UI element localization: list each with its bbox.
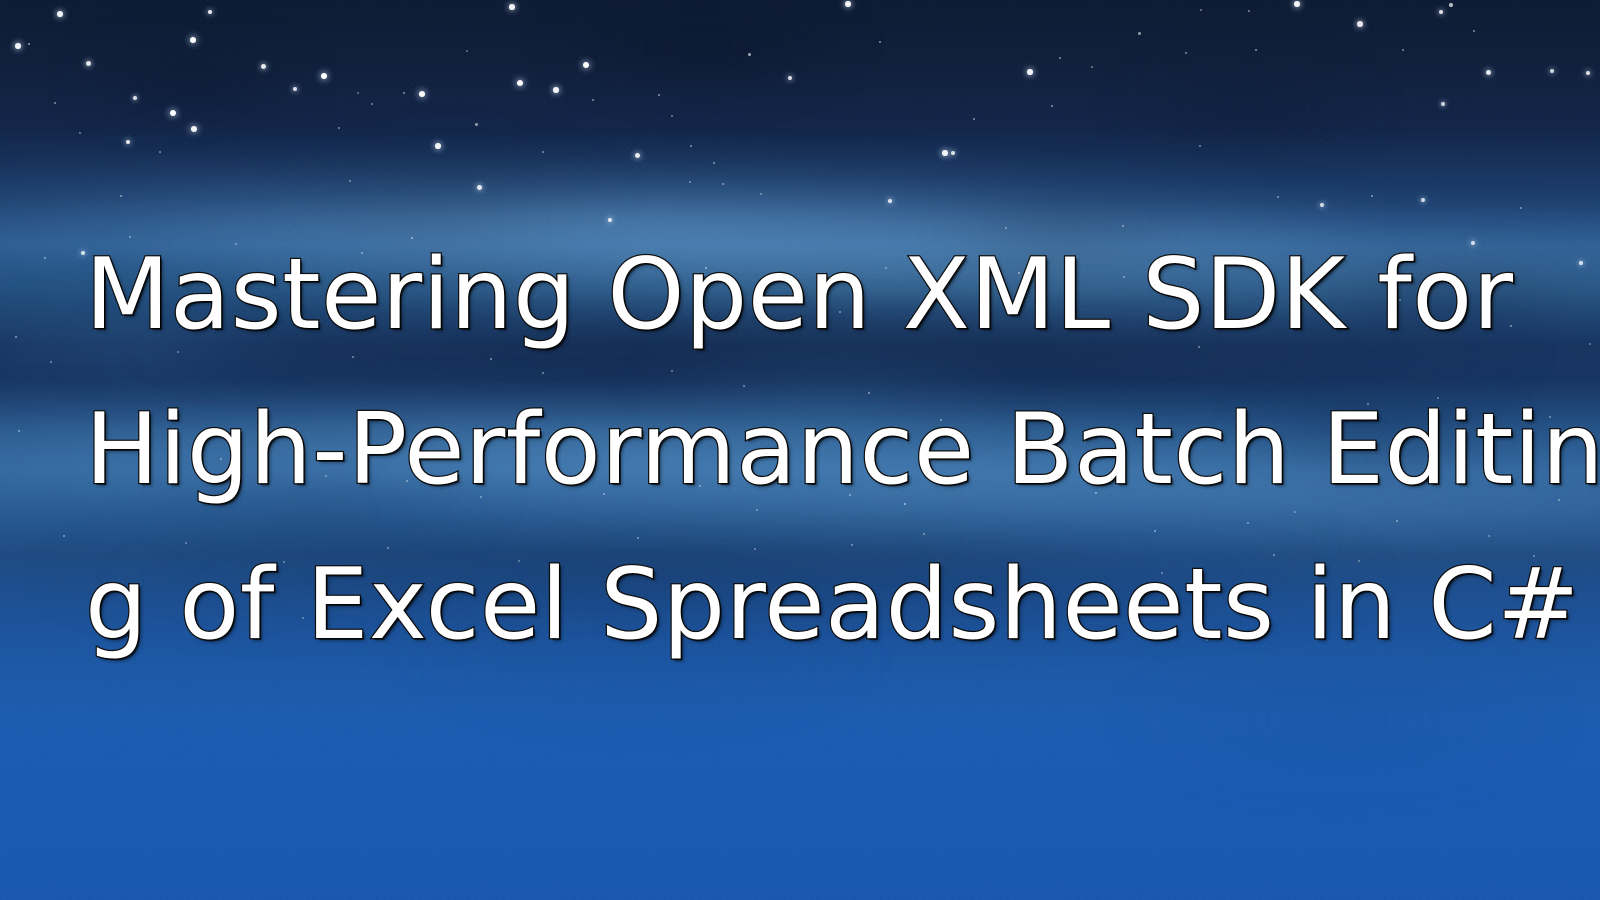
title-slide: Mastering Open XML SDK for High-Performa… <box>0 0 1600 900</box>
title-line-2: High-Performance Batch Editin <box>85 373 1600 528</box>
title-text-block: Mastering Open XML SDK for High-Performa… <box>0 0 1600 900</box>
title-line-1: Mastering Open XML SDK for <box>85 218 1514 373</box>
title-line-3: g of Excel Spreadsheets in C# <box>85 528 1580 683</box>
